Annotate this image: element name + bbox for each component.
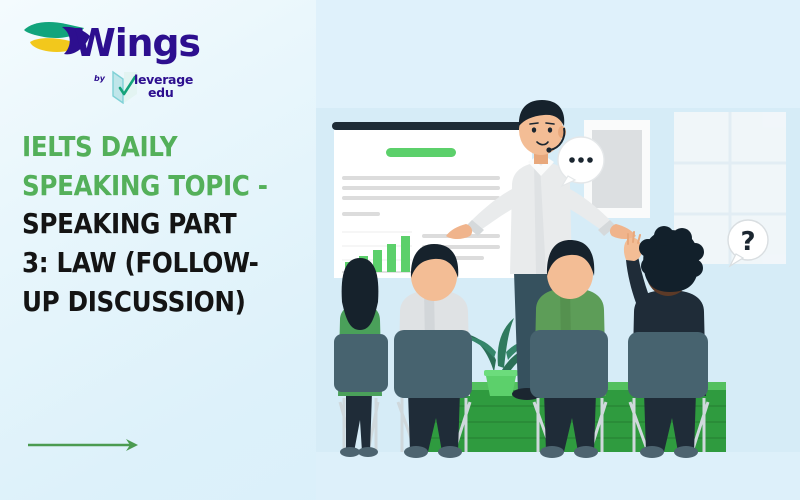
board-title-bar [386, 148, 456, 157]
right-arrow-glyph [26, 437, 146, 453]
poster-canvas: Wings by leverage edu Leverage IELTS IEL… [0, 0, 800, 500]
edu-label: edu [134, 86, 193, 99]
svg-text:?: ? [740, 227, 755, 257]
right-arrow-icon[interactable] [26, 437, 146, 453]
leverage-edu-wordmark: leverage edu [134, 73, 193, 99]
headline-line-2: SPEAKING TOPIC - [22, 167, 268, 206]
wings-wordmark: Wings [74, 24, 200, 62]
headline-line-3: SPEAKING PART [22, 205, 268, 244]
headline-line-1: IELTS DAILY [22, 128, 268, 167]
headline-line-5: UP DISCUSSION) [22, 283, 268, 322]
page-title: IELTS DAILY SPEAKING TOPIC - SPEAKING PA… [22, 128, 302, 321]
hair [342, 258, 379, 330]
wings-by-label: by [94, 74, 105, 83]
headline-line-4: 3: LAW (FOLLOW- [22, 244, 268, 283]
chair-back [628, 332, 708, 398]
chair-back [530, 330, 608, 398]
wings-logo[interactable]: Wings by leverage edu [22, 12, 222, 104]
chair-back [394, 330, 472, 398]
illustration-canvas: ? [316, 0, 800, 500]
classroom-presentation-illustration: ? [316, 0, 800, 500]
chair-back [334, 334, 388, 392]
